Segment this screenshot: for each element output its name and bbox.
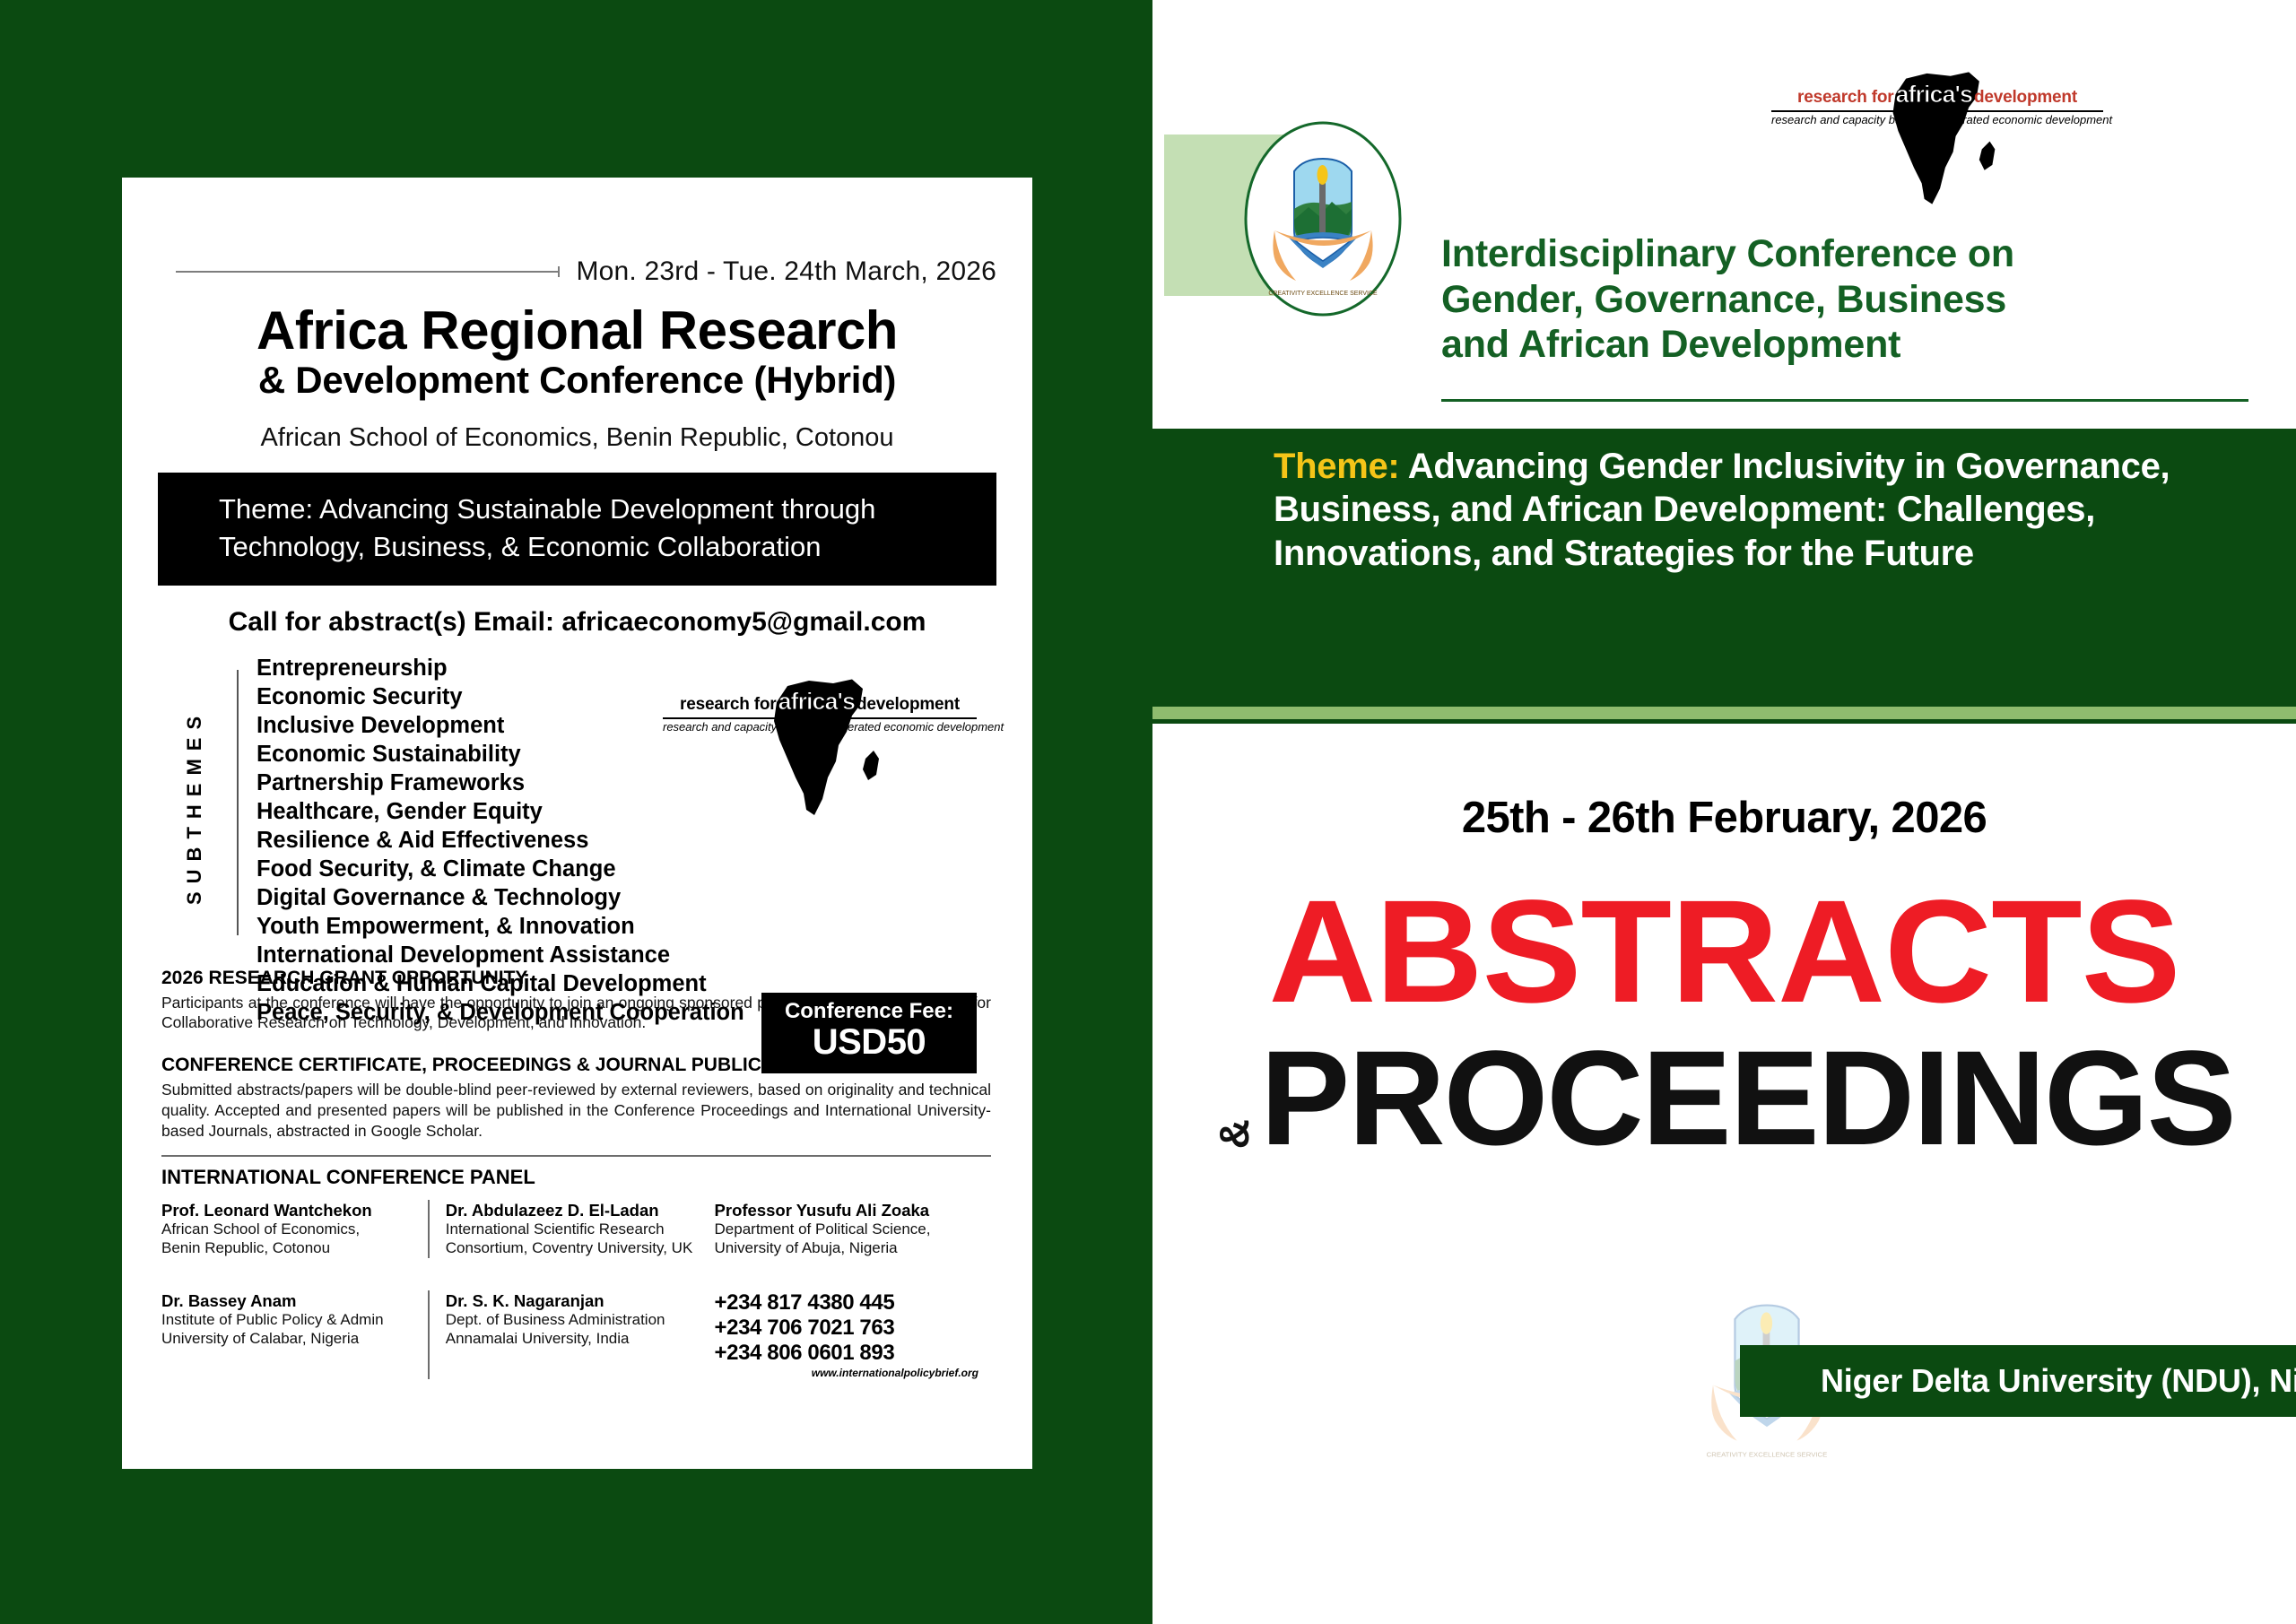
flyer-theme-line-1: Theme: Advancing Sustainable Development… (158, 491, 996, 528)
list-item: Entrepreneurship (257, 654, 744, 682)
panel-member: Prof. Leonard Wantchekon African School … (161, 1200, 428, 1258)
cover-title-underline (1441, 399, 2248, 402)
panel-member-name: Dr. S. K. Nagaranjan (446, 1290, 699, 1311)
panel-member-affiliation: Benin Republic, Cotonou (161, 1239, 415, 1258)
contact-phone[interactable]: +234 706 7021 763 (715, 1316, 991, 1341)
rfad-rule (663, 717, 977, 719)
seal-motto: CREATIVITY EXCELLENCE SERVICE (1268, 291, 1378, 297)
flyer-date-row: Mon. 23rd - Tue. 24th March, 2026 (158, 256, 996, 287)
cover-headline-proceedings-row: & PROCEEDINGS (1152, 1036, 2296, 1159)
university-banner-text: Niger Delta University (NDU), Nigeria (1740, 1362, 2296, 1400)
list-item: Education & Human Capital Development (257, 969, 744, 998)
cover-title-line: and African Development (1441, 322, 2248, 368)
cover-theme-keyword: Theme: (1274, 447, 1399, 486)
panel-member: Dr. Bassey Anam Institute of Public Poli… (161, 1290, 428, 1379)
panel-member-affiliation: Dept. of Business Administration (446, 1311, 699, 1330)
panel-member-name: Professor Yusufu Ali Zoaka (715, 1200, 991, 1220)
cover-theme-text: Theme: Advancing Gender Inclusivity in G… (1274, 445, 2278, 575)
cover-theme-band: Theme: Advancing Gender Inclusivity in G… (1152, 429, 2296, 707)
list-item: Economic Sustainability (257, 740, 744, 769)
flyer-date: Mon. 23rd - Tue. 24th March, 2026 (576, 256, 996, 287)
cover-title-line: Interdisciplinary Conference on (1441, 231, 2248, 277)
rfad-tagline-left: research and capacity building (1771, 113, 1929, 126)
rfad-tagline-right: accelerated economic development (1929, 113, 2113, 126)
list-item: Food Security, & Climate Change (257, 855, 744, 883)
panel-grid: Prof. Leonard Wantchekon African School … (161, 1200, 991, 1379)
rfad-tagline-left: research and capacity building (663, 720, 821, 734)
rfad-rule (1771, 110, 2103, 112)
panel-member-affiliation: African School of Economics, (161, 1220, 415, 1239)
conference-fee-label: Conference Fee: (785, 1000, 953, 1024)
rfad-suffix: development (857, 695, 960, 715)
panel-divider (161, 1155, 991, 1157)
conference-flyer-card: Mon. 23rd - Tue. 24th March, 2026 Africa… (122, 178, 1032, 1469)
left-green-backdrop: Mon. 23rd - Tue. 24th March, 2026 Africa… (0, 0, 1152, 1624)
ndu-seal-logo: CREATIVITY EXCELLENCE SERVICE (1242, 119, 1404, 318)
list-item: Youth Empowerment, & Innovation (257, 912, 744, 941)
subthemes-section: SUBTHEMES Entrepreneurship Economic Secu… (158, 650, 996, 946)
list-item: Peace, Security, & Development Cooperati… (257, 998, 744, 1027)
flyer-theme-line-2: Technology, Business, & Economic Collabo… (158, 528, 996, 566)
panel-member-name: Dr. Bassey Anam (161, 1290, 415, 1311)
contact-phone[interactable]: +234 817 4380 445 (715, 1290, 991, 1316)
subthemes-divider (237, 670, 239, 935)
cover-headline-proceedings: PROCEEDINGS (1260, 1036, 2235, 1159)
list-item: Healthcare, Gender Equity (257, 797, 744, 826)
rfad-prefix: research for (680, 695, 776, 715)
certificate-body: Submitted abstracts/papers will be doubl… (161, 1080, 991, 1141)
contact-block: +234 817 4380 445 +234 706 7021 763 +234… (699, 1290, 991, 1379)
rfad-suffix: development (1974, 88, 2077, 108)
panel-member-affiliation: Consortium, Coventry University, UK (446, 1239, 699, 1258)
rfad-tagline: research and capacity building accelerat… (1771, 113, 2103, 126)
rfad-highlight: africa's (776, 688, 857, 716)
rfad-highlight: africa's (1893, 81, 1974, 109)
call-for-abstracts: Call for abstract(s) Email: africaeconom… (158, 607, 996, 638)
contact-website[interactable]: www.internationalpolicybrief.org (715, 1367, 991, 1379)
cover-conference-title: Interdisciplinary Conference on Gender, … (1441, 231, 2248, 368)
panel-member-affiliation: Annamalai University, India (446, 1330, 699, 1349)
list-item: Resilience & Aid Effectiveness (257, 826, 744, 855)
cover-title-line: Gender, Governance, Business (1441, 277, 2248, 323)
conference-fee-amount: USD50 (785, 1023, 953, 1062)
rfad-logo-right: research for africa's development resear… (1771, 81, 2103, 126)
rfad-wordmark: research for africa's development (663, 688, 977, 716)
panel-member-affiliation: Department of Political Science, (715, 1220, 991, 1239)
panel-row: Dr. Bassey Anam Institute of Public Poli… (161, 1290, 991, 1379)
cover-headline-ampersand: & (1213, 1119, 1255, 1149)
cover-theme-body: Advancing Gender Inclusivity in Governan… (1274, 447, 2170, 573)
panel-member: Dr. S. K. Nagaranjan Dept. of Business A… (428, 1290, 699, 1379)
panel-member: Professor Yusufu Ali Zoaka Department of… (699, 1200, 991, 1258)
panel-member-affiliation: Institute of Public Policy & Admin (161, 1311, 415, 1330)
subthemes-vertical-label: SUBTHEMES (183, 681, 206, 932)
rfad-prefix: research for (1797, 88, 1893, 108)
panel-member-affiliation: University of Calabar, Nigeria (161, 1330, 415, 1349)
panel-member-affiliation: International Scientific Research (446, 1220, 699, 1239)
date-rule-line (176, 271, 560, 273)
contact-phone[interactable]: +234 806 0601 893 (715, 1341, 991, 1366)
rfad-logo-left: research for africa's development resear… (663, 688, 977, 734)
flyer-title-main: Africa Regional Research (158, 303, 996, 359)
panel-member-affiliation: University of Abuja, Nigeria (715, 1239, 991, 1258)
panel-heading: INTERNATIONAL CONFERENCE PANEL (161, 1166, 991, 1189)
flyer-venue: African School of Economics, Benin Repub… (158, 423, 996, 453)
panel-member-name: Prof. Leonard Wantchekon (161, 1200, 415, 1220)
panel-member: Dr. Abdulazeez D. El-Ladan International… (428, 1200, 699, 1258)
band-accent-stripe (1152, 707, 2296, 719)
list-item: Partnership Frameworks (257, 769, 744, 797)
svg-text:CREATIVITY EXCELLENCE SERV: CREATIVITY EXCELLENCE SERVICE (1707, 1450, 1828, 1458)
rfad-tagline: research and capacity building accelerat… (663, 720, 977, 734)
rfad-tagline-right: accelerated economic development (821, 720, 1004, 734)
rfad-wordmark: research for africa's development (1771, 81, 2103, 109)
conference-fee-box: Conference Fee: USD50 (761, 993, 977, 1073)
flyer-theme-box: Theme: Advancing Sustainable Development… (158, 473, 996, 585)
panel-member-name: Dr. Abdulazeez D. El-Ladan (446, 1200, 699, 1220)
panel-row: Prof. Leonard Wantchekon African School … (161, 1200, 991, 1258)
flyer-title-sub: & Development Conference (Hybrid) (158, 360, 996, 400)
university-banner: Niger Delta University (NDU), Nigeria (1740, 1345, 2296, 1417)
cover-headline-abstracts: ABSTRACTS (1141, 886, 2296, 1018)
right-cover-panel: CREATIVITY EXCELLENCE SERVICE research f… (1152, 0, 2296, 1624)
list-item: Digital Governance & Technology (257, 883, 744, 912)
band-accent-stripe-dark (1152, 719, 2296, 724)
list-item: International Development Assistance (257, 941, 744, 969)
cover-dates: 25th - 26th February, 2026 (1152, 793, 2296, 843)
poster-page: Mon. 23rd - Tue. 24th March, 2026 Africa… (0, 0, 2296, 1624)
